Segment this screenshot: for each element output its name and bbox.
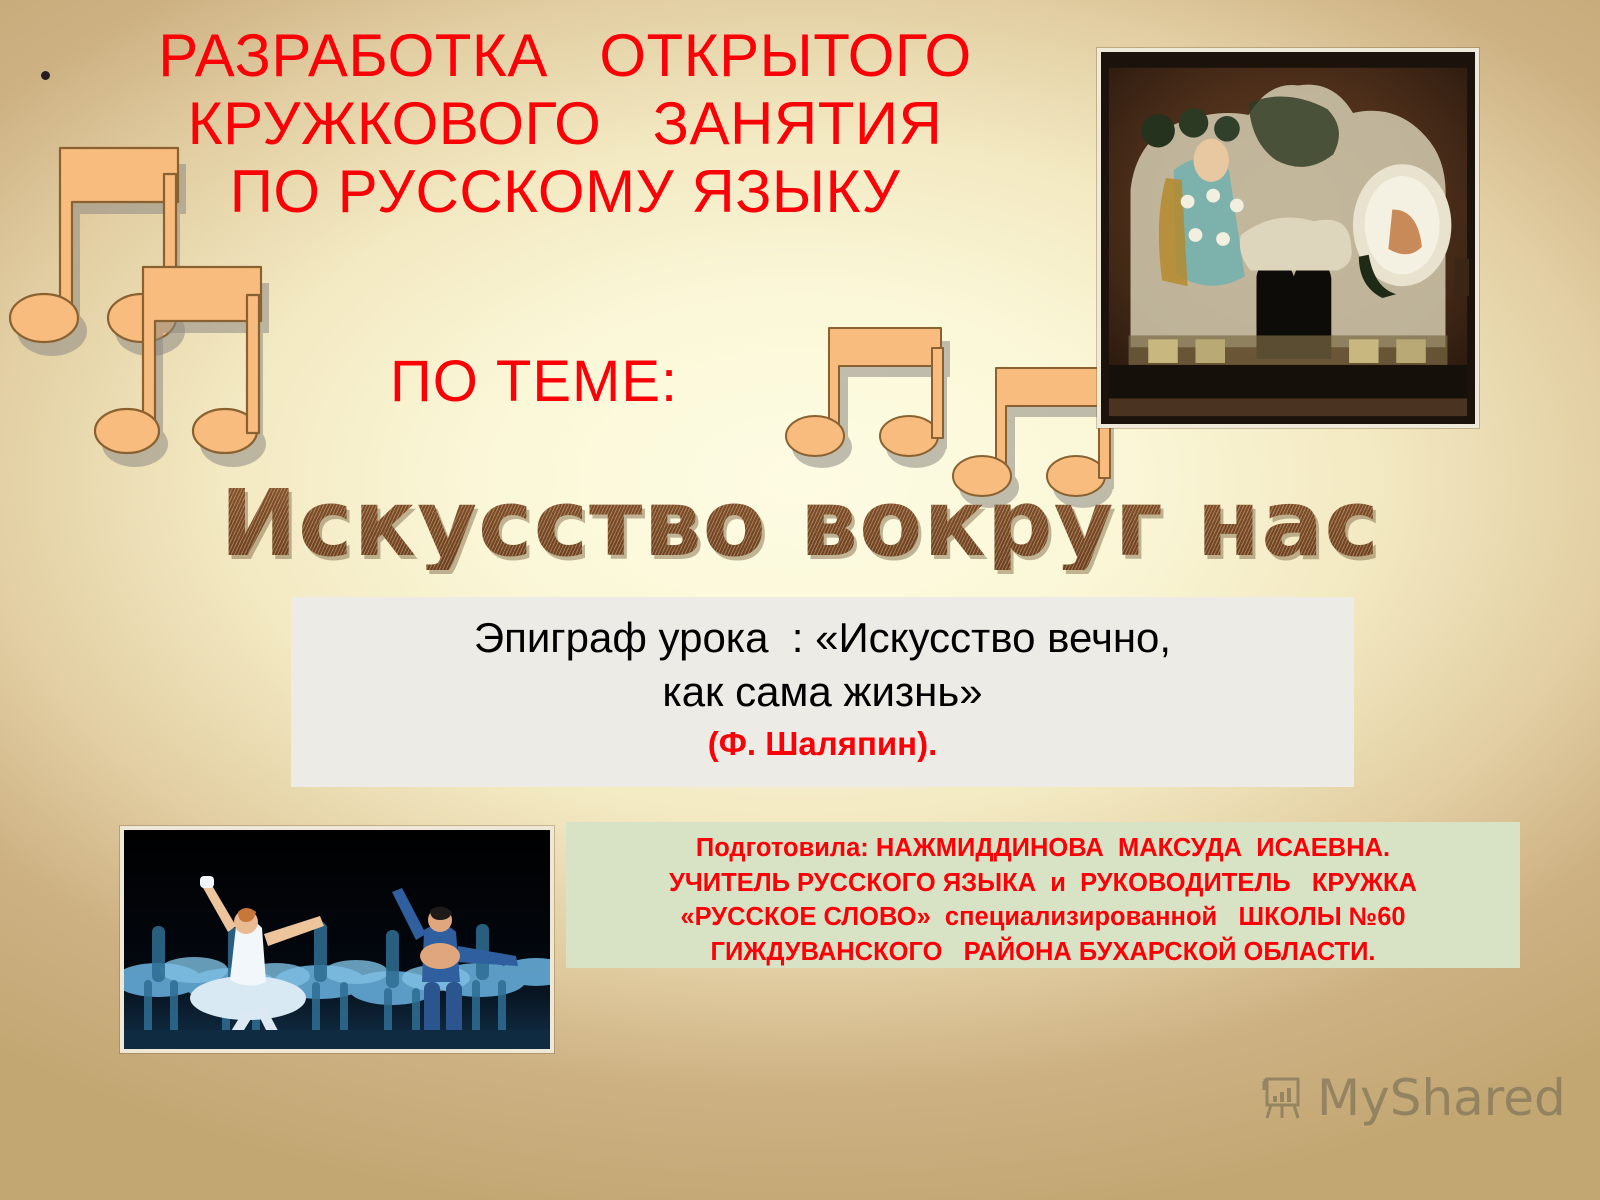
credits-panel: Подготовила: НАЖМИДДИНОВА МАКСУДА ИСАЕВН… [566, 822, 1520, 968]
slide-heading: РАЗРАБОТКА ОТКРЫТОГО КРУЖКОВОГО ЗАНЯТИЯ … [60, 22, 1070, 225]
epigraph-author: (Ф. Шаляпин). [291, 725, 1354, 763]
myshared-watermark-label: MyShared [1317, 1073, 1566, 1123]
presentation-slide: РАЗРАБОТКА ОТКРЫТОГО КРУЖКОВОГО ЗАНЯТИЯ … [0, 0, 1600, 1200]
presentation-easel-icon [1255, 1068, 1309, 1127]
credits-line-4: ГИЖДУВАНСКОГО РАЙОНА БУХАРСКОЙ ОБЛАСТИ. [572, 935, 1514, 970]
credits-line-3: «РУССКОЕ СЛОВО» специализированной ШКОЛЫ… [572, 900, 1514, 935]
heading-line-2: КРУЖКОВОГО ЗАНЯТИЯ [60, 90, 1070, 158]
heading-line-3: ПО РУССКОМУ ЯЗЫКУ [60, 158, 1070, 226]
heading-line-1: РАЗРАБОТКА ОТКРЫТОГО [60, 22, 1070, 90]
credits-line-1: Подготовила: НАЖМИДДИНОВА МАКСУДА ИСАЕВН… [572, 831, 1514, 866]
wordart-title: Искусство вокруг нас [0, 478, 1600, 570]
ballet-performance-image [124, 830, 550, 1049]
bullet-dot [41, 71, 50, 80]
mosaic-artwork-image [1101, 52, 1475, 424]
epigraph-line-1: Эпиграф урока : «Искусство вечно, [291, 611, 1354, 665]
myshared-watermark: MyShared [1255, 1068, 1566, 1127]
epigraph-line-2: как сама жизнь» [291, 665, 1354, 719]
subject-label: ПО ТЕМЕ: [390, 348, 678, 415]
music-note-pair-3 [795, 320, 970, 470]
music-note-pair-2 [105, 253, 280, 473]
credits-line-2: УЧИТЕЛЬ РУССКОГО ЯЗЫКА и РУКОВОДИТЕЛЬ КР… [572, 866, 1514, 901]
wordart-title-text: Искусство вокруг нас [220, 478, 1380, 570]
ballet-performance-photo [120, 826, 554, 1053]
epigraph-panel: Эпиграф урока : «Искусство вечно, как са… [291, 597, 1354, 787]
mosaic-artwork-photo [1097, 48, 1479, 428]
